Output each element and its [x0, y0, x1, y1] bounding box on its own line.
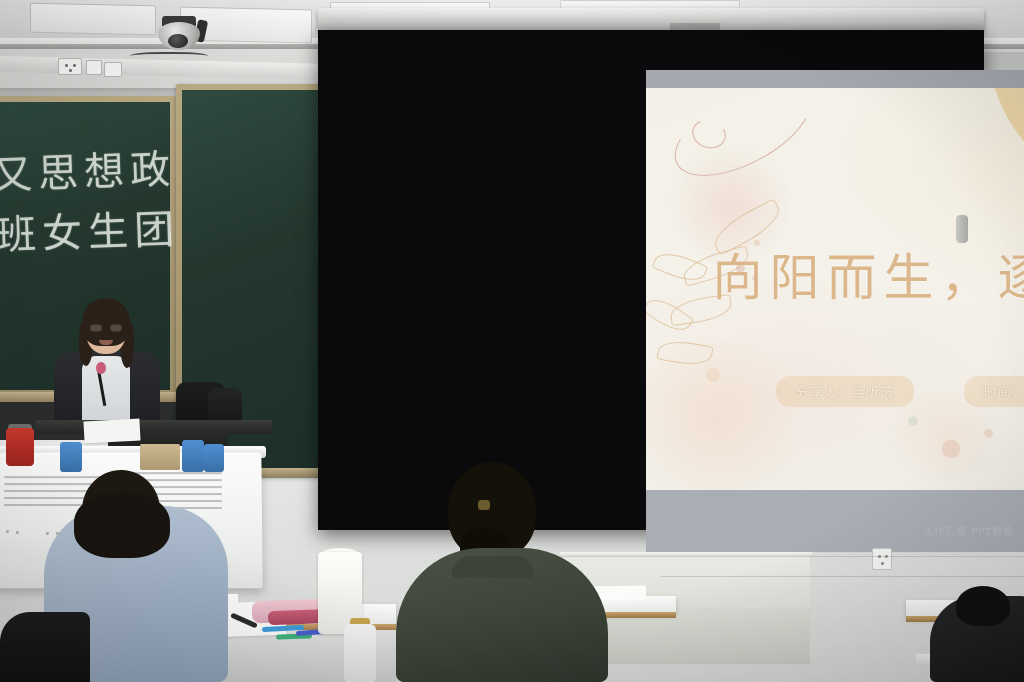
wall-power-outlet [872, 548, 892, 570]
slide-title: 向阳而生，逐光而行 [646, 238, 1024, 310]
accent-dot [942, 440, 960, 458]
ceiling-power-outlet [104, 62, 122, 77]
slide-badge-row: 分享人：吕昕芮 时间：2025年11月25日 [646, 376, 1024, 407]
cardboard-box [140, 444, 180, 470]
student-center-collar [452, 556, 534, 578]
presentation-slide: 向阳而生，逐光而行 ——致2025级学弟学妹们 分享人：吕昕芮 时间：2025年… [646, 88, 1024, 490]
screen-side-knob [956, 215, 968, 243]
hair-tie [478, 500, 490, 510]
microphone-icon [96, 362, 106, 374]
blackboard-chalk-line-1: 又思想政 [0, 137, 177, 201]
fluorescent-light-fixture [30, 3, 156, 36]
accent-dot [984, 429, 993, 438]
blue-cup [182, 440, 204, 472]
accent-dot [908, 416, 918, 426]
housing-brand-label [670, 23, 720, 30]
letterbox-bottom: 工作汇报 PPT模板 [646, 490, 1024, 552]
letterbox-top [646, 70, 1024, 88]
badge-presenter: 分享人：吕昕芮 [776, 376, 914, 407]
camera-cable [130, 52, 208, 62]
ceiling-power-outlet [58, 58, 82, 75]
presenter-glasses-right [110, 324, 122, 332]
presenter-glasses-left [90, 324, 102, 332]
red-thermos [6, 428, 34, 466]
projector-screen-housing [318, 8, 984, 32]
student-right-head [956, 586, 1010, 626]
projection-surface: 向阳而生，逐光而行 ——致2025级学弟学妹们 分享人：吕昕芮 时间：2025年… [646, 70, 1024, 552]
slide-watermark: 工作汇报 PPT模板 [646, 527, 1024, 538]
foreground-person-shoulder [0, 612, 90, 682]
blue-cup [204, 444, 224, 472]
projector-screen-frame: 向阳而生，逐光而行 ——致2025级学弟学妹们 分享人：吕昕芮 时间：2025年… [318, 30, 984, 530]
classroom-photo: 又思想政 班女生团 [0, 0, 1024, 682]
presenter-hair [82, 298, 130, 346]
camera-lens-icon [168, 34, 188, 48]
presenter-notes [83, 419, 140, 444]
blackboard-chalk-line-2: 班女生团 [0, 197, 181, 261]
ceiling-power-outlet [86, 60, 102, 75]
water-bottle [344, 624, 376, 682]
student-left-hair [74, 492, 170, 558]
badge-date: 时间：2025年11月25日 [964, 376, 1024, 407]
blue-cup [60, 442, 82, 472]
